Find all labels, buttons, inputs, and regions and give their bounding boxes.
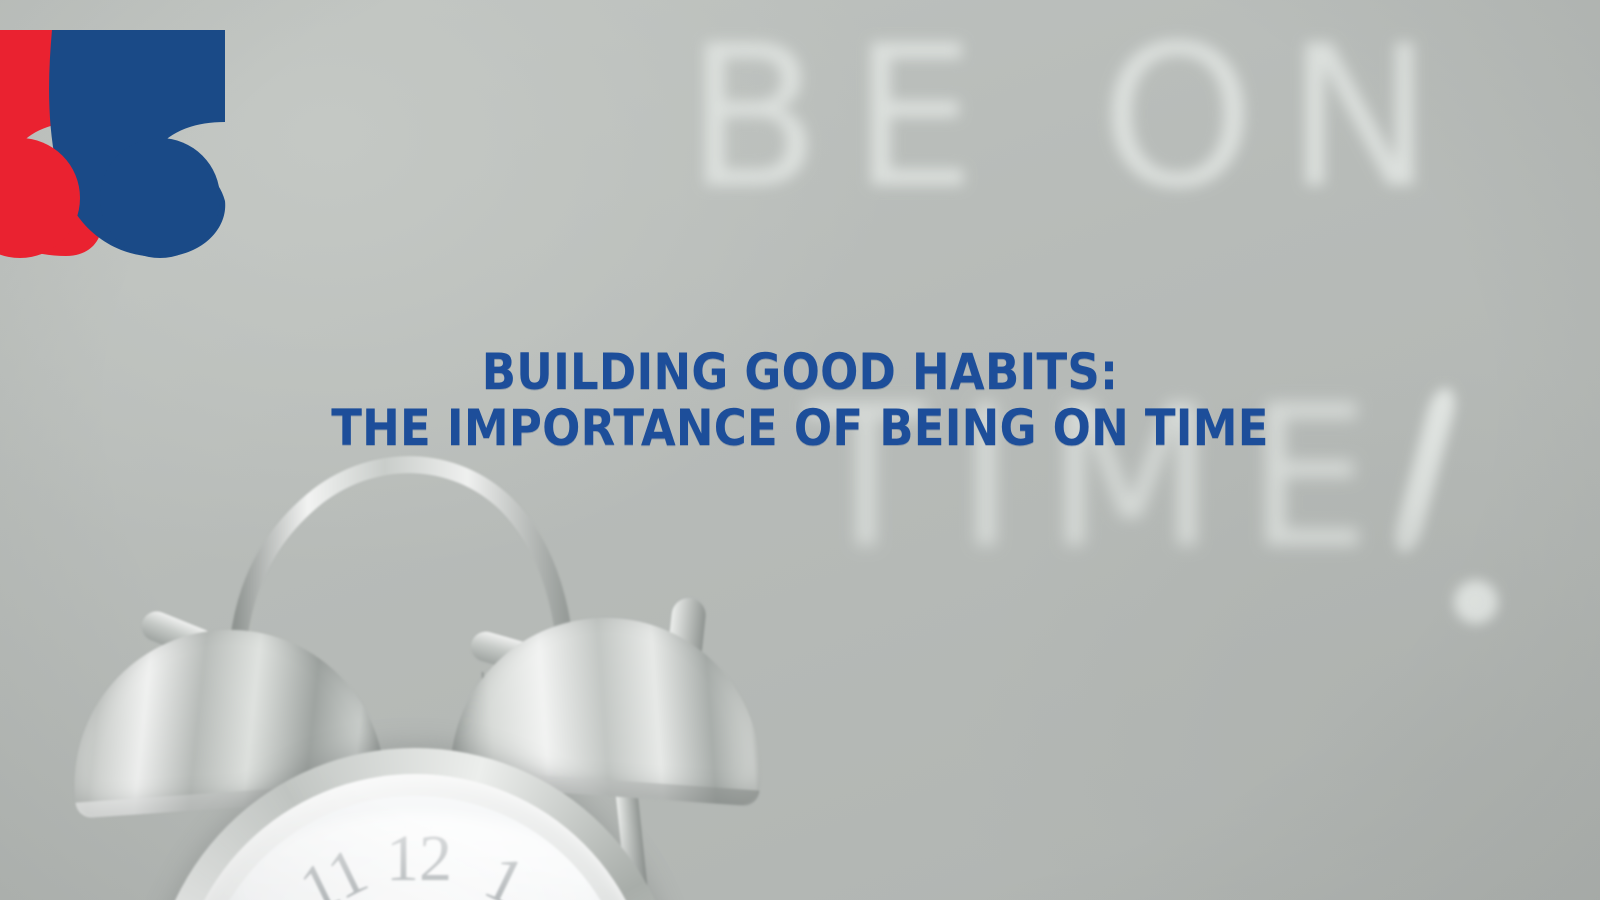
poster-canvas: BE ON TIME [0, 0, 1600, 900]
quote-bowl-blue [100, 138, 220, 258]
quotation-mark-shape [0, 30, 228, 258]
title-line-2: THE IMPORTANCE OF BEING ON TIME [116, 400, 1484, 456]
quotation-mark-icon [0, 30, 228, 258]
title-line-1: BUILDING GOOD HABITS: [116, 344, 1484, 400]
page-title: BUILDING GOOD HABITS: THE IMPORTANCE OF … [0, 344, 1600, 456]
